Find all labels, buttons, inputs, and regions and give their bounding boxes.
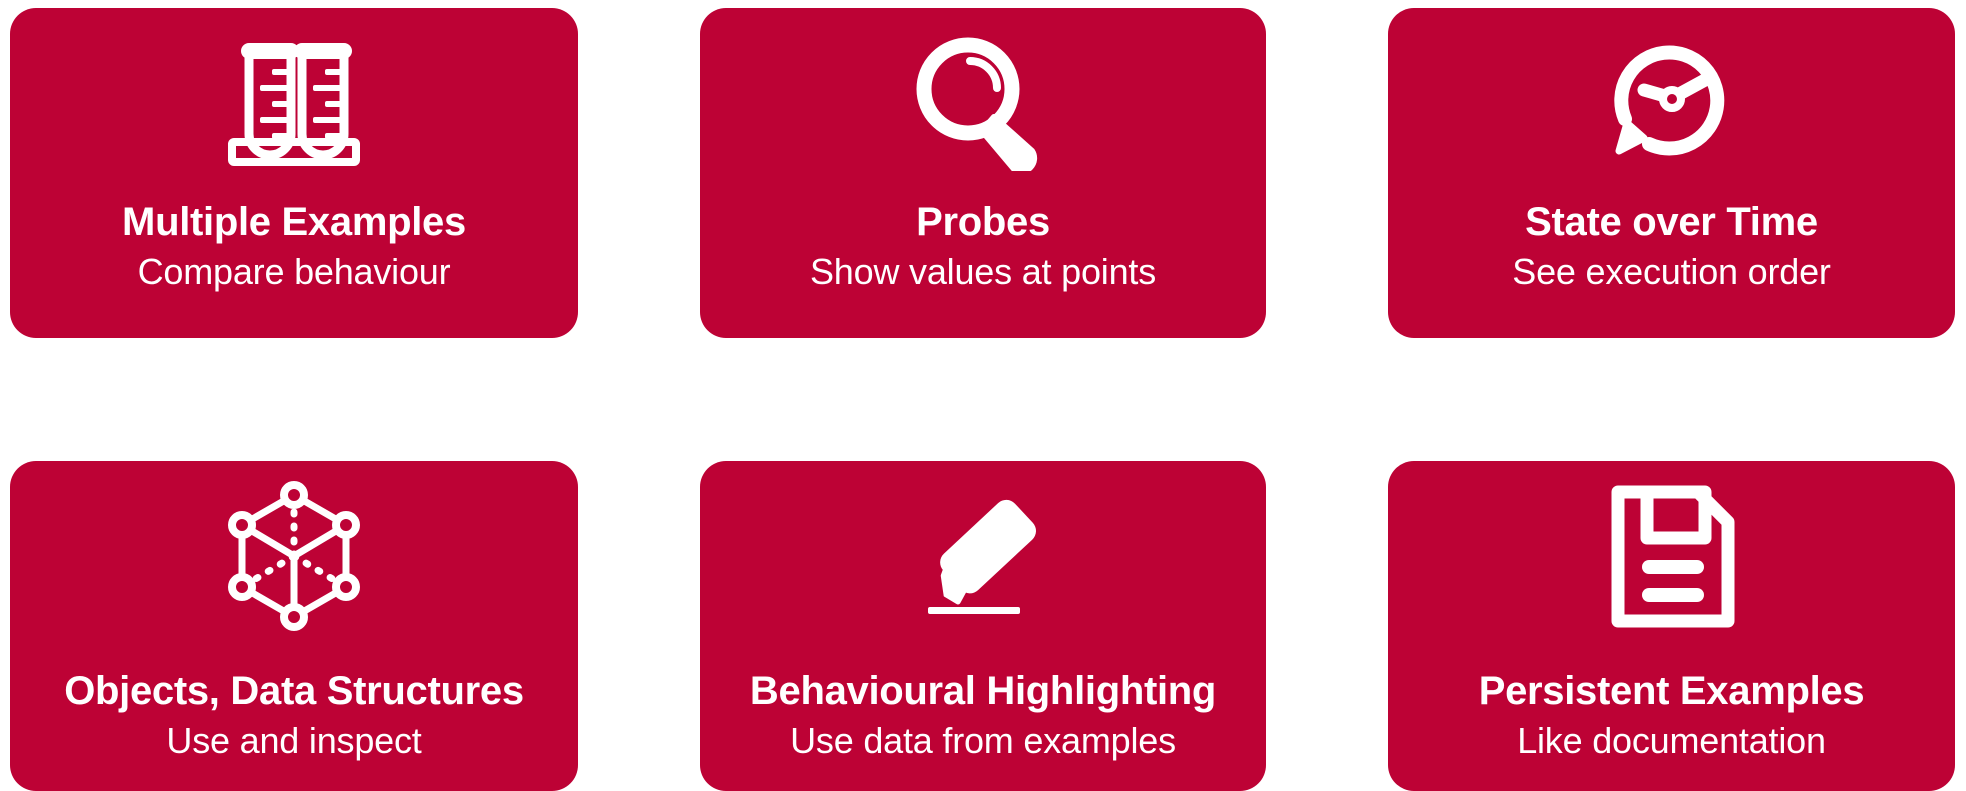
card-subtitle: See execution order [1512,250,1830,294]
card-title: Objects, Data Structures [64,667,524,715]
card-subtitle: Like documentation [1517,719,1826,763]
feature-card-state-over-time[interactable]: State over Time See execution order [1388,8,1955,338]
clock-history-icon [1388,8,1955,176]
feature-card-multiple-examples[interactable]: Multiple Examples Compare behaviour [10,8,578,338]
card-title: Probes [916,198,1050,246]
feature-card-objects-data-structures[interactable]: Objects, Data Structures Use and inspect [10,461,578,791]
card-subtitle: Use data from examples [790,719,1176,763]
card-title: State over Time [1525,198,1818,246]
magnifying-glass-icon [700,8,1266,176]
card-title: Multiple Examples [122,198,466,246]
card-subtitle: Show values at points [810,250,1156,294]
card-title: Persistent Examples [1479,667,1865,715]
save-document-icon [1388,461,1955,631]
card-subtitle: Compare behaviour [138,250,451,294]
test-tubes-icon [10,8,578,176]
feature-card-behavioural-highlighting[interactable]: Behavioural Highlighting Use data from e… [700,461,1266,791]
feature-card-persistent-examples[interactable]: Persistent Examples Like documentation [1388,461,1955,791]
card-subtitle: Use and inspect [166,719,421,763]
feature-card-probes[interactable]: Probes Show values at points [700,8,1266,338]
hexagon-node-graph-icon [10,461,578,631]
feature-card-grid: Multiple Examples Compare behaviour Prob… [0,0,1966,790]
card-title: Behavioural Highlighting [750,667,1216,715]
highlighter-marker-icon [700,461,1266,631]
